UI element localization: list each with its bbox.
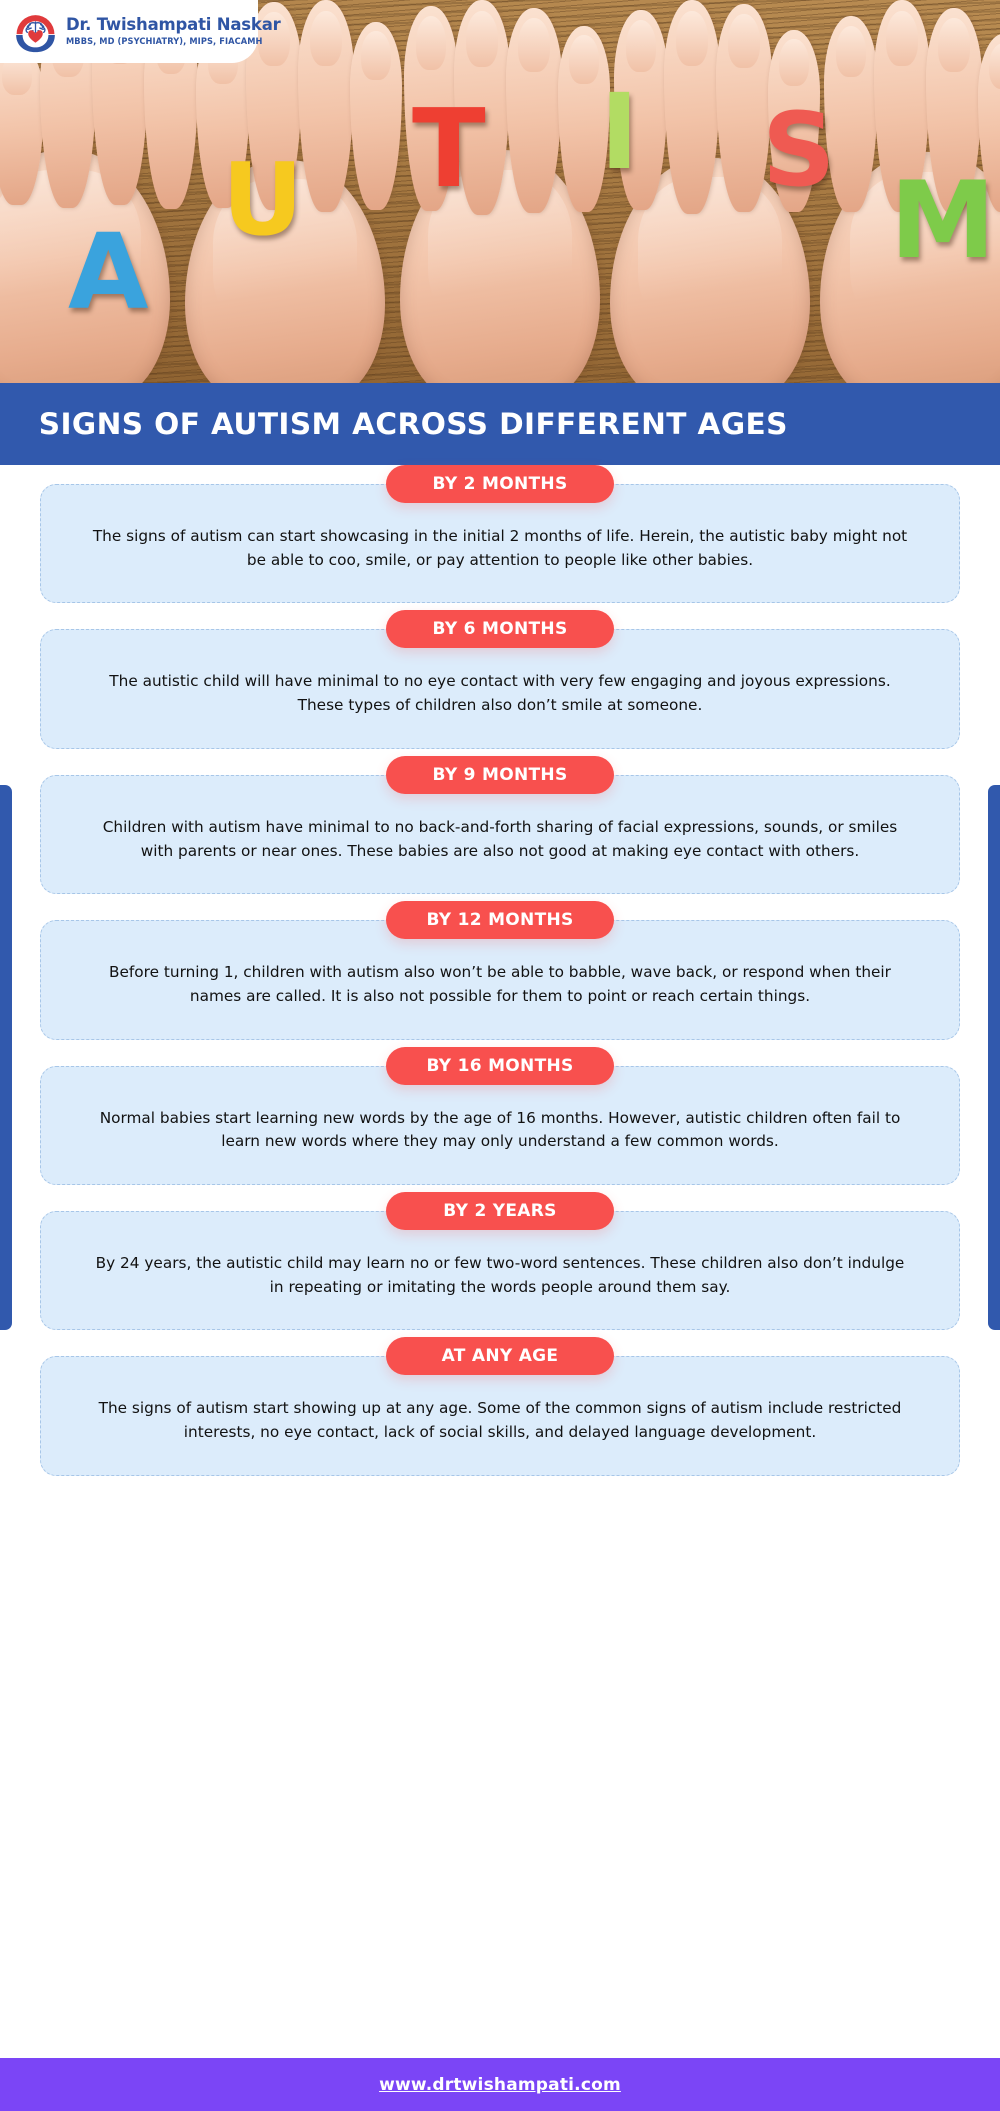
age-card-9-months: BY 9 MONTHS Children with autism have mi… — [40, 756, 960, 894]
age-pill-label: BY 2 YEARS — [386, 1192, 614, 1230]
footer-bar: www.drtwishampati.com — [0, 2058, 1000, 2111]
age-card-text: Normal babies start learning new words b… — [90, 1107, 910, 1154]
brand-name: Dr. Twishampati Naskar — [66, 16, 281, 34]
brand-logo-badge[interactable]: Dr. Twishampati Naskar MBBS, MD (PSYCHIA… — [0, 0, 258, 63]
age-pill-label: BY 16 MONTHS — [386, 1047, 614, 1085]
hero-letter-s: S — [762, 100, 835, 202]
age-card-text: By 24 years, the autistic child may lear… — [90, 1252, 910, 1299]
age-card-12-months: BY 12 MONTHS Before turning 1, children … — [40, 901, 960, 1039]
age-pill-label: BY 2 MONTHS — [386, 465, 614, 503]
hero-letter-u: U — [222, 150, 303, 250]
hero-letter-t: T — [412, 96, 486, 204]
website-url-link[interactable]: www.drtwishampati.com — [379, 2075, 621, 2095]
brain-heart-hands-logo-icon — [14, 10, 57, 53]
hero-letter-m: M — [890, 168, 995, 274]
age-card-text: Children with autism have minimal to no … — [90, 816, 910, 863]
brand-text-block: Dr. Twishampati Naskar MBBS, MD (PSYCHIA… — [66, 16, 281, 46]
age-pill-label: BY 6 MONTHS — [386, 610, 614, 648]
brand-credentials: MBBS, MD (PSYCHIATRY), MIPS, FIACAMH — [66, 37, 272, 47]
age-card-16-months: BY 16 MONTHS Normal babies start learnin… — [40, 1047, 960, 1185]
age-card-text: The signs of autism start showing up at … — [90, 1397, 910, 1444]
page-title: SIGNS OF AUTISM ACROSS DIFFERENT AGES — [0, 407, 788, 441]
hero-letter-a: A — [68, 220, 149, 324]
age-card-text: The signs of autism can start showcasing… — [90, 525, 910, 572]
age-card-text: The autistic child will have minimal to … — [90, 670, 910, 717]
title-banner: SIGNS OF AUTISM ACROSS DIFFERENT AGES — [0, 383, 1000, 465]
age-pill-label: BY 9 MONTHS — [386, 756, 614, 794]
age-card-any-age: AT ANY AGE The signs of autism start sho… — [40, 1337, 960, 1475]
age-card-2-months: BY 2 MONTHS The signs of autism can star… — [40, 465, 960, 603]
infographic-page: A U T I S M — [0, 0, 1000, 2111]
card-stack: BY 2 MONTHS The signs of autism can star… — [0, 465, 1000, 1476]
hero-letter-i: I — [600, 80, 639, 184]
age-card-6-months: BY 6 MONTHS The autistic child will have… — [40, 610, 960, 748]
age-card-2-years: BY 2 YEARS By 24 years, the autistic chi… — [40, 1192, 960, 1330]
age-pill-label: BY 12 MONTHS — [386, 901, 614, 939]
age-pill-label: AT ANY AGE — [386, 1337, 614, 1375]
age-card-text: Before turning 1, children with autism a… — [90, 961, 910, 1008]
